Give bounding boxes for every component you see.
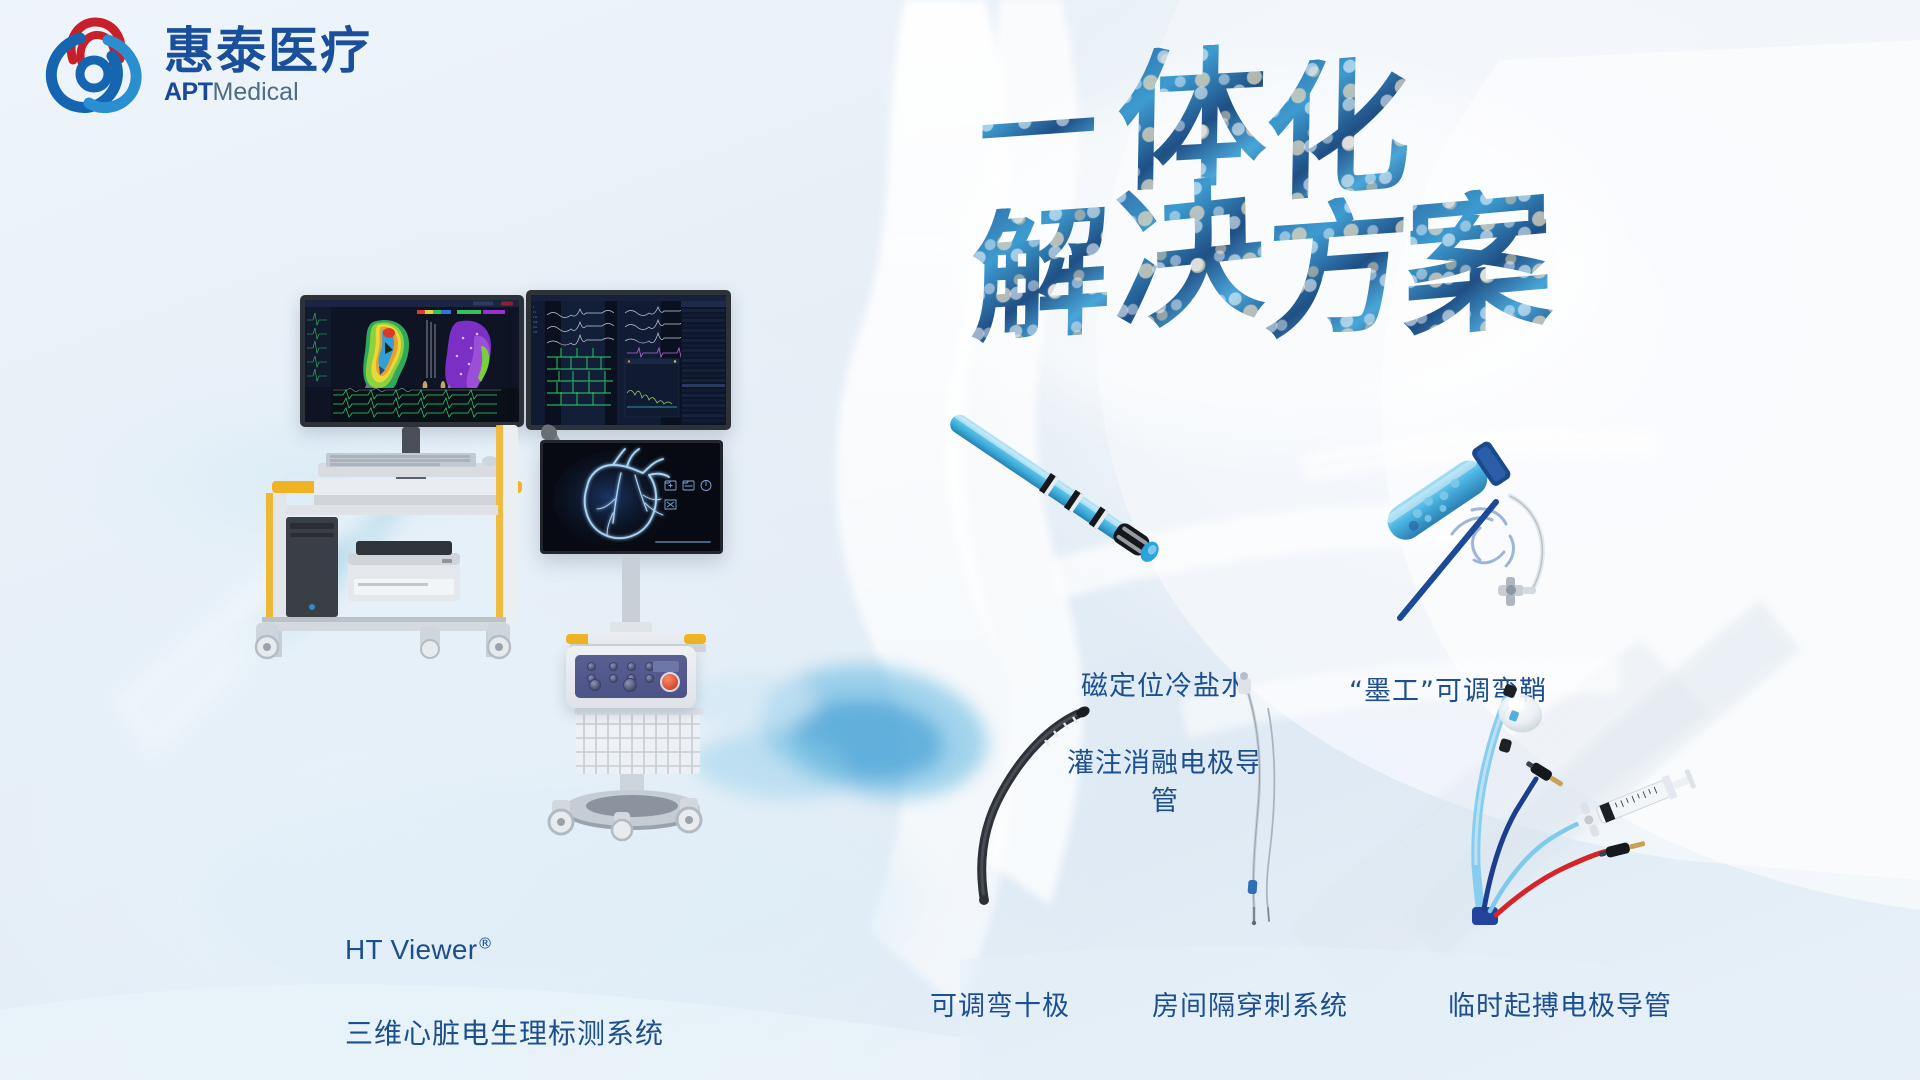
label-ht-viewer: HT Viewer® 三维心脏电生理标测系统 <box>345 845 705 1080</box>
brand-name-en-bold: APT <box>164 78 213 106</box>
emergency-stop-button[interactable] <box>660 672 680 692</box>
rf-generator <box>566 646 696 708</box>
label-transseptal-system-text: 房间隔穿刺系统 <box>1152 991 1348 1022</box>
label-ht-viewer-cn: 三维心脏电生理标测系统 <box>345 1013 705 1055</box>
label-transseptal-system: 房间隔穿刺系统 <box>1080 950 1420 1027</box>
apt-medical-loop-logo-icon <box>40 14 148 118</box>
ablation-catheter-icon <box>965 435 1185 575</box>
headline-char-1: 一 <box>978 70 1098 197</box>
label-pacing-catheter: 临时起搏电极导管 <box>1420 950 1700 1027</box>
brand-logo: 惠泰医疗 APTMedical <box>40 14 372 118</box>
label-ht-viewer-name: HT Viewer <box>345 934 477 965</box>
headline-char-4: 解 <box>970 201 1112 351</box>
steerable-sheath-icon <box>1400 440 1690 630</box>
brand-name-cn: 惠泰医疗 <box>164 26 372 77</box>
pacing-catheter-icon <box>1380 675 1680 925</box>
label-ht-viewer-en: HT Viewer® <box>345 887 705 971</box>
label-ht-viewer-trademark: ® <box>477 935 493 953</box>
headline-char-5: 决 <box>1112 172 1266 340</box>
label-decapolar-catheter-text: 可调弯十极 <box>930 991 1070 1022</box>
headline-calligraphy: 一 体 化 解 决 方 案 <box>965 40 1645 340</box>
brand-name-en-light: Medical <box>213 78 299 106</box>
heart-display-trolley <box>540 440 800 860</box>
headline-char-6: 方 <box>1263 193 1412 348</box>
headline-char-7: 案 <box>1403 183 1552 347</box>
brand-name-en: APTMedical <box>164 79 372 107</box>
label-pacing-catheter-text: 临时起搏电极导管 <box>1448 991 1672 1022</box>
label-decapolar-catheter: 可调弯十极 <box>890 950 1110 1027</box>
poster-canvas: 惠泰医疗 APTMedical 一 体 化 解 决 方 案 <box>0 0 1920 1080</box>
rf-generator-panel <box>575 655 687 698</box>
decapolar-catheter-icon <box>940 700 1100 920</box>
transseptal-needle-icon <box>1210 680 1340 930</box>
